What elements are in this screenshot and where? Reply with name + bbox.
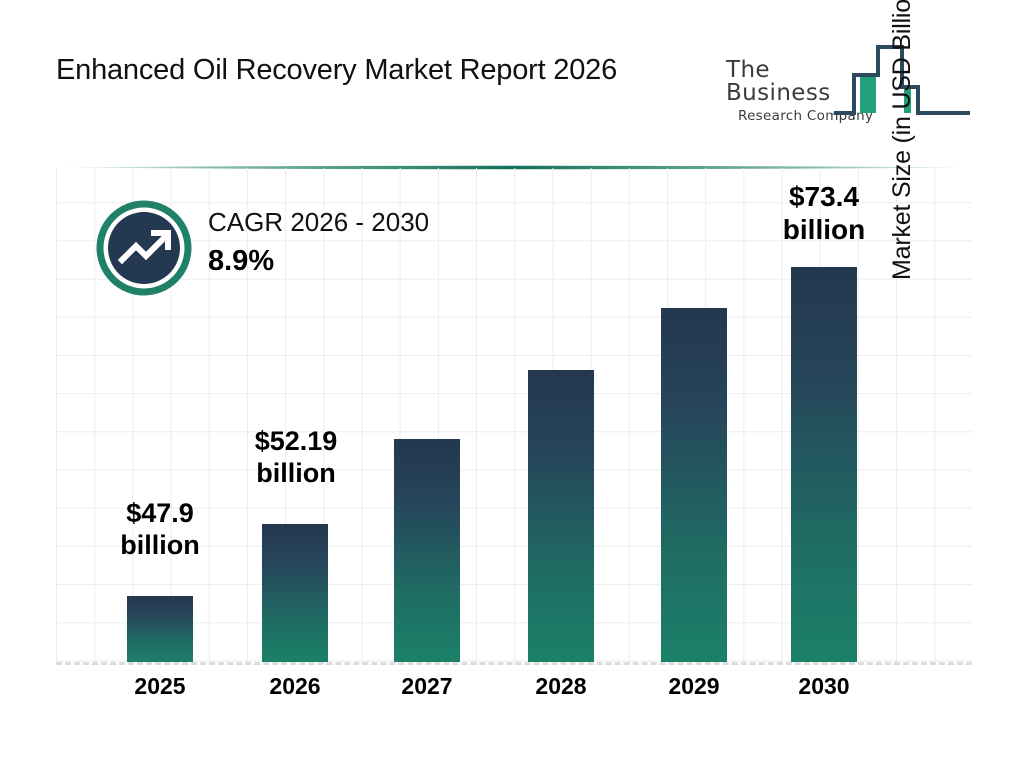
x-label-2025: 2025 [120,673,200,700]
cagr-period-label: CAGR 2026 - 2030 [208,208,429,237]
x-label-2028: 2028 [521,673,601,700]
bar-2025[interactable] [127,596,193,662]
trending-up-icon [96,200,192,296]
bar-2030[interactable] [791,267,857,662]
cagr-badge: CAGR 2026 - 2030 8.9% [96,200,516,310]
value-label-2025-unit: billion [95,530,225,562]
value-label-2026-unit: billion [228,458,364,490]
company-logo: The Business Research Company [726,35,972,125]
bar-chart: $47.9 billion $52.19 billion $73.4 billi… [0,168,1024,768]
bar-2029[interactable] [661,308,727,662]
value-label-2030-unit: billion [757,213,891,246]
x-label-2030: 2030 [784,673,864,700]
x-axis-labels: 2025 2026 2027 2028 2029 2030 [0,673,1024,713]
page-title: Enhanced Oil Recovery Market Report 2026 [56,54,617,87]
y-axis-title: Market Size (in USD Billion) [888,0,917,280]
header-divider [48,158,976,165]
bar-2027[interactable] [394,439,460,662]
value-label-2030-amount: $73.4 [757,180,891,213]
value-label-2026: $52.19 billion [228,426,364,490]
value-label-2030: $73.4 billion [757,180,891,246]
value-label-2025: $47.9 billion [95,498,225,562]
value-label-2025-amount: $47.9 [95,498,225,530]
bar-2028[interactable] [528,370,594,662]
infographic-page: Enhanced Oil Recovery Market Report 2026… [0,0,1024,768]
bar-2026[interactable] [262,524,328,662]
x-label-2029: 2029 [654,673,734,700]
header: Enhanced Oil Recovery Market Report 2026… [0,0,1024,150]
cagr-value: 8.9% [208,246,429,278]
cagr-text: CAGR 2026 - 2030 8.9% [208,208,429,277]
value-label-2026-amount: $52.19 [228,426,364,458]
x-label-2026: 2026 [255,673,335,700]
x-label-2027: 2027 [387,673,467,700]
